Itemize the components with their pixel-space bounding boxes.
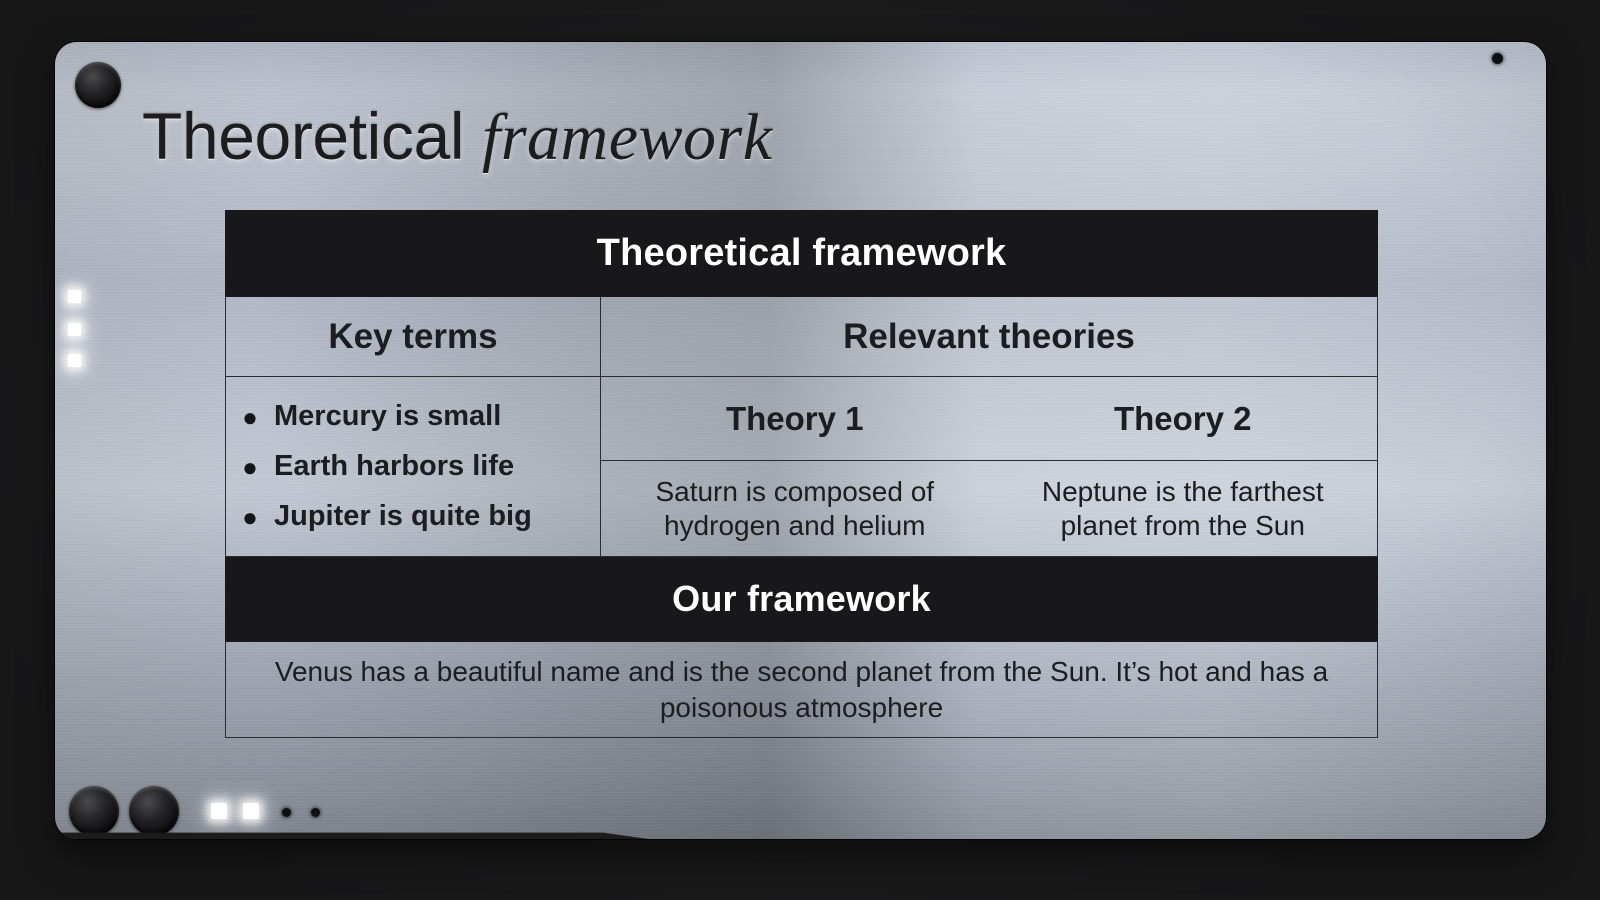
column-header-key-terms: Key terms	[226, 297, 601, 377]
table-row-column-headers: Key terms Relevant theories	[226, 297, 1378, 377]
list-item-label: Jupiter is quite big	[274, 502, 532, 531]
table-header-band-label: Theoretical framework	[226, 211, 1378, 297]
bullet-icon: ●	[226, 504, 274, 530]
slide-stage: Theoretical framework Theoretical framew…	[0, 0, 1600, 900]
page-title: Theoretical framework	[142, 100, 773, 175]
table-row-theory-names: ● Mercury is small ● Earth harbors life …	[226, 377, 1378, 461]
list-item: ● Mercury is small	[226, 392, 600, 442]
list-item: ● Earth harbors life	[226, 442, 600, 492]
our-framework-body-text: Venus has a beautiful name and is the se…	[226, 642, 1378, 738]
list-item-label: Earth harbors life	[274, 452, 514, 481]
bullet-icon: ●	[226, 454, 274, 480]
table-row-header-band: Theoretical framework	[226, 211, 1378, 297]
list-item: ● Jupiter is quite big	[226, 492, 600, 542]
dot-bottom-2	[311, 808, 320, 817]
led-left-1	[68, 290, 81, 303]
our-framework-band-label: Our framework	[226, 557, 1378, 642]
key-terms-list: ● Mercury is small ● Earth harbors life …	[226, 392, 600, 542]
page-title-regular: Theoretical	[142, 99, 464, 173]
theoretical-framework-table: Theoretical framework Key terms Relevant…	[225, 210, 1378, 738]
port-screw-bottom-left	[69, 786, 119, 836]
port-screw-top-left	[75, 62, 121, 108]
theory-2-description: Neptune is the farthest planet from the …	[989, 461, 1378, 557]
led-bottom-2	[243, 803, 259, 819]
led-left-2	[68, 323, 81, 336]
page-title-italic: framework	[482, 101, 772, 174]
port-screw-bottom-right	[129, 786, 179, 836]
theory-1-name: Theory 1	[601, 377, 989, 461]
dot-bottom-1	[282, 808, 291, 817]
key-terms-cell: ● Mercury is small ● Earth harbors life …	[226, 377, 601, 557]
metal-device-panel: Theoretical framework Theoretical framew…	[55, 42, 1546, 839]
list-item-label: Mercury is small	[274, 402, 501, 431]
table-row-our-framework-body: Venus has a beautiful name and is the se…	[226, 642, 1378, 738]
column-header-relevant-theories: Relevant theories	[601, 297, 1378, 377]
bullet-icon: ●	[226, 404, 274, 430]
theory-2-name: Theory 2	[989, 377, 1378, 461]
table-row-our-framework-band: Our framework	[226, 557, 1378, 642]
led-left-3	[68, 354, 81, 367]
led-bottom-1	[211, 803, 227, 819]
theory-1-description: Saturn is composed of hydrogen and heliu…	[601, 461, 989, 557]
indicator-dot-top-right	[1492, 53, 1503, 64]
